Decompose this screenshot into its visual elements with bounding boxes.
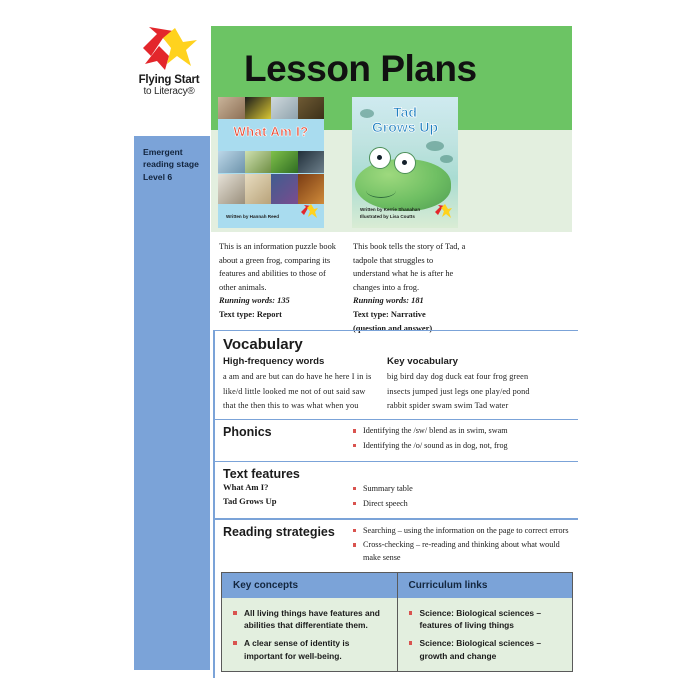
- vocabulary-heading: Vocabulary: [223, 336, 578, 353]
- cover-byline-what-am-i: Written by Hannah Reed: [226, 214, 279, 221]
- high-frequency-words: a am and are but can do have he here I i…: [223, 370, 373, 412]
- key-vocabulary-words: big bird day dog duck eat four frog gree…: [387, 370, 537, 412]
- list-item: All living things have features and abil…: [233, 607, 389, 631]
- frog-mouth: [366, 183, 396, 198]
- phonics-label-cell: Phonics: [223, 425, 353, 454]
- high-frequency-column: High-frequency words a am and are but ca…: [223, 356, 373, 412]
- high-frequency-label: High-frequency words: [223, 356, 373, 367]
- list-item: Science: Biological sciences – features …: [409, 607, 565, 631]
- section-vocabulary: Vocabulary High-frequency words a am and…: [215, 331, 578, 418]
- cover-title-line2: Grows Up: [372, 119, 438, 135]
- text-features-book-2: Tad Grows Up: [223, 495, 353, 509]
- reading-stage-bar: Emergent reading stage Level 6: [134, 136, 210, 670]
- book-blurb-what-am-i: This is an information puzzle book about…: [219, 240, 337, 322]
- brand-name-line1: Flying Start: [139, 75, 200, 87]
- text-features-items: Summary table Direct speech: [353, 467, 578, 512]
- lesson-plan-page: Flying Start to Literacy® Emergent readi…: [0, 0, 700, 700]
- curriculum-links-column: Curriculum links Science: Biological sci…: [397, 573, 573, 671]
- frog-eye-icon: [369, 147, 391, 169]
- reading-strategies-items: Searching – using the information on the…: [353, 525, 578, 567]
- section-phonics: Phonics Identifying the /sw/ blend as in…: [215, 420, 578, 460]
- list-item: Searching – using the information on the…: [353, 525, 578, 538]
- book-cover-tad-grows-up: Tad Grows Up Written by Kerrie Shanahan …: [352, 97, 458, 228]
- cover-title-line1: Tad: [393, 104, 417, 120]
- list-item: A clear sense of identity is important f…: [233, 637, 389, 661]
- book-cover-what-am-i: What Am I? Written by Hannah Reed: [218, 97, 324, 228]
- key-vocabulary-label: Key vocabulary: [387, 356, 537, 367]
- list-item: Cross-checking – re-reading and thinking…: [353, 539, 578, 564]
- publisher-star-icon: [299, 203, 319, 223]
- tadpole-shape: [440, 155, 453, 163]
- section-text-features: Text features What Am I? Tad Grows Up Su…: [215, 462, 578, 518]
- page-title: Lesson Plans: [244, 48, 477, 90]
- list-item: Direct speech: [353, 498, 578, 511]
- cover-photo-row: [218, 174, 324, 204]
- key-concepts-column: Key concepts All living things have feat…: [222, 573, 397, 671]
- brand-logo: Flying Start to Literacy®: [126, 26, 212, 106]
- key-vocabulary-column: Key vocabulary big bird day dog duck eat…: [387, 356, 537, 412]
- reading-stage-label: Emergent reading stage Level 6: [143, 146, 205, 183]
- list-item: Identifying the /o/ sound as in dog, not…: [353, 440, 578, 453]
- key-concepts-header: Key concepts: [222, 573, 397, 598]
- frog-eye-icon: [394, 152, 416, 174]
- key-concepts-table: Key concepts All living things have feat…: [221, 572, 573, 672]
- cover-title-what-am-i: What Am I?: [218, 124, 324, 139]
- cover-byline-tad-grows-up: Written by Kerrie Shanahan Illustrated b…: [360, 207, 420, 221]
- text-features-book-1: What Am I?: [223, 481, 353, 495]
- curriculum-links-body: Science: Biological sciences – features …: [398, 598, 573, 671]
- tadpole-shape: [426, 141, 444, 151]
- brand-name: Flying Start to Literacy®: [139, 75, 200, 97]
- brand-name-line2: to Literacy®: [139, 87, 200, 97]
- phonics-label: Phonics: [223, 425, 353, 439]
- phonics-items: Identifying the /sw/ blend as in swim, s…: [353, 425, 578, 454]
- book-blurb-tad-grows-up: This book tells the story of Tad, a tadp…: [353, 240, 471, 335]
- cover-byline-line2: Illustrated by Lisa Coutts: [360, 214, 415, 219]
- curriculum-links-header: Curriculum links: [398, 573, 573, 598]
- reading-strategies-label-cell: Reading strategies: [223, 525, 353, 567]
- list-item: Identifying the /sw/ blend as in swim, s…: [353, 425, 578, 438]
- list-item: Summary table: [353, 483, 578, 496]
- star-burst-icon: [139, 26, 199, 72]
- blurb-text: This is an information puzzle book about…: [219, 242, 336, 292]
- cover-photo-row: [218, 97, 324, 119]
- text-features-label: Text features: [223, 467, 353, 481]
- publisher-star-icon: [433, 203, 453, 223]
- running-words: Running words: 181: [353, 294, 471, 308]
- reading-strategies-label: Reading strategies: [223, 525, 353, 539]
- section-reading-strategies: Reading strategies Searching – using the…: [215, 520, 578, 573]
- blurb-text: This book tells the story of Tad, a tadp…: [353, 242, 465, 292]
- text-features-label-cell: Text features What Am I? Tad Grows Up: [223, 467, 353, 512]
- cover-byline-line1: Written by Kerrie Shanahan: [360, 207, 420, 212]
- cover-photo-row: [218, 151, 324, 173]
- cover-title-tad-grows-up: Tad Grows Up: [352, 105, 458, 134]
- text-type: Text type: Report: [219, 308, 337, 322]
- running-words: Running words: 135: [219, 294, 337, 308]
- text-type: Text type: Narrative: [353, 308, 471, 322]
- list-item: Science: Biological sciences – growth an…: [409, 637, 565, 661]
- key-concepts-body: All living things have features and abil…: [222, 598, 397, 671]
